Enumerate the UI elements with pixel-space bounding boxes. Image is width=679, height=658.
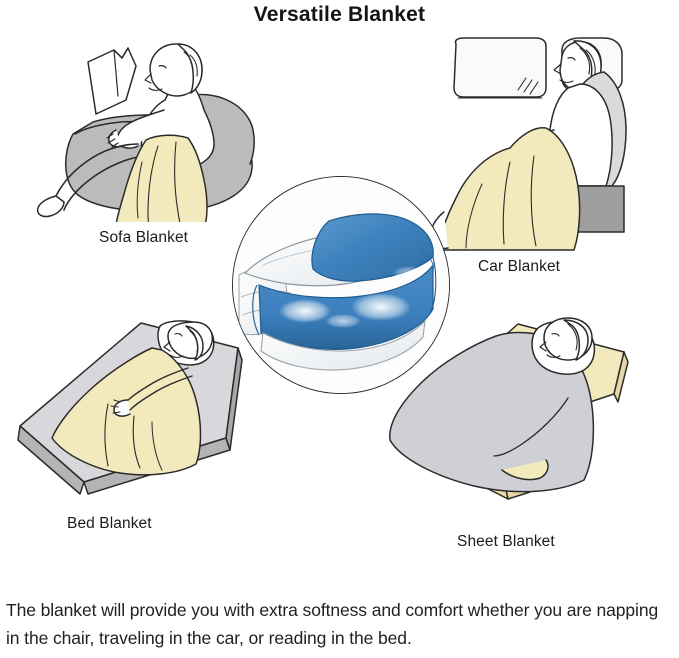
scene-sofa-blanket (18, 22, 278, 227)
scene-car-blanket (418, 26, 668, 261)
scene-bed-blanket (0, 318, 250, 518)
caption-car-blanket: Car Blanket (478, 258, 560, 276)
caption-sheet-blanket: Sheet Blanket (457, 533, 555, 551)
product-photo-circle (232, 176, 450, 394)
caption-bed-blanket: Bed Blanket (67, 515, 152, 533)
description-text: The blanket will provide you with extra … (0, 596, 679, 652)
infographic-canvas: Versatile Blanket (0, 0, 679, 658)
caption-sofa-blanket: Sofa Blanket (99, 229, 188, 247)
